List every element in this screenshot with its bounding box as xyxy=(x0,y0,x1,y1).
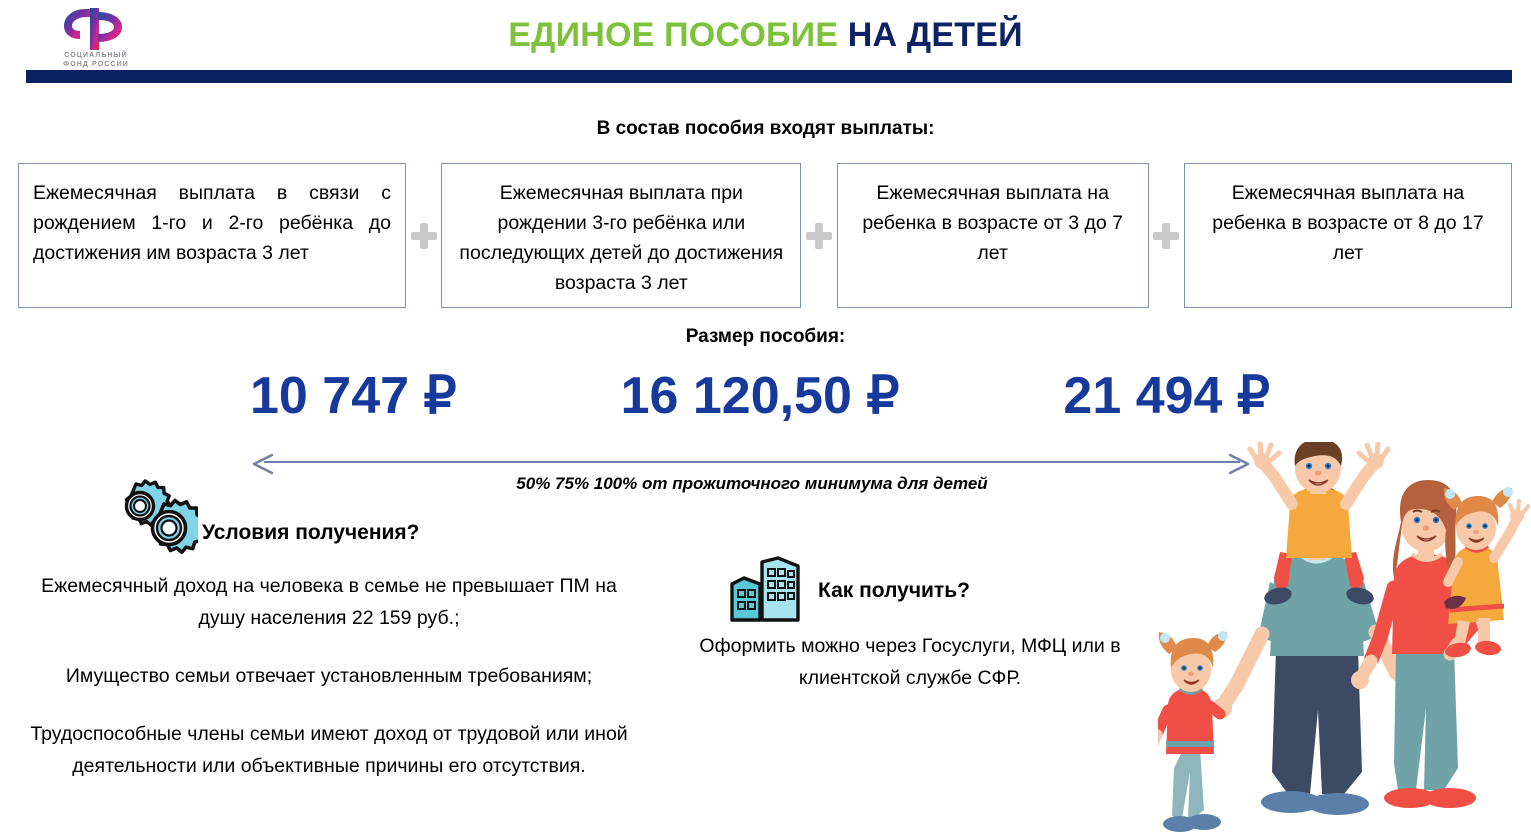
family-illustration xyxy=(1158,442,1531,836)
how-to-get-title: Как получить? xyxy=(818,579,970,603)
component-box-3: Ежемесячная выплата на ребенка в возраст… xyxy=(837,163,1149,308)
plus-icon xyxy=(411,223,437,249)
plus-separator-3 xyxy=(1149,163,1184,308)
amount-value-50: 10 747 ₽ xyxy=(250,366,457,426)
component-box-1: Ежемесячная выплата в связи с рождением … xyxy=(18,163,406,308)
component-box-2: Ежемесячная выплата при рождении 3-го ре… xyxy=(441,163,801,308)
amount-heading: Размер пособия: xyxy=(0,326,1531,348)
conditions-list: Ежемесячный доход на человека в семье не… xyxy=(18,570,640,782)
condition-item-1: Ежемесячный доход на человека в семье не… xyxy=(18,570,640,634)
amount-value-100: 21 494 ₽ xyxy=(1063,366,1270,426)
components-row: Ежемесячная выплата в связи с рождением … xyxy=(18,163,1512,308)
plus-icon xyxy=(806,223,832,249)
component-box-4: Ежемесячная выплата на ребенка в возраст… xyxy=(1184,163,1512,308)
how-to-get-text: Оформить можно через Госуслуги, МФЦ или … xyxy=(660,630,1160,694)
header-divider-bar xyxy=(26,70,1512,83)
components-heading: В состав пособия входят выплаты: xyxy=(0,118,1531,140)
amount-value-75: 16 120,50 ₽ xyxy=(621,366,900,426)
plus-separator-2 xyxy=(801,163,836,308)
page-title-navy: НА ДЕТЕЙ xyxy=(848,16,1023,54)
range-arrow-line xyxy=(264,461,1240,463)
infographic-poster: СОЦИАЛЬНЫЙ ФОНД РОССИИ ЕДИНОЕ ПОСОБИЕ НА… xyxy=(0,0,1531,836)
page-title: ЕДИНОЕ ПОСОБИЕ НА ДЕТЕЙ xyxy=(0,14,1531,56)
plus-separator-1 xyxy=(406,163,441,308)
plus-icon xyxy=(1153,223,1179,249)
amount-values-row: 10 747 ₽ 16 120,50 ₽ 21 494 ₽ xyxy=(250,366,1270,426)
range-arrow-caption: 50% 75% 100% от прожиточного минимума дл… xyxy=(264,474,1240,494)
condition-item-3: Трудоспособные члены семьи имеют доход о… xyxy=(18,718,640,782)
gears-icon xyxy=(106,478,198,560)
page-title-green: ЕДИНОЕ ПОСОБИЕ xyxy=(508,16,838,54)
buildings-icon xyxy=(722,556,814,622)
conditions-title: Условия получения? xyxy=(202,521,420,545)
condition-item-2: Имущество семьи отвечает установленным т… xyxy=(18,660,640,692)
